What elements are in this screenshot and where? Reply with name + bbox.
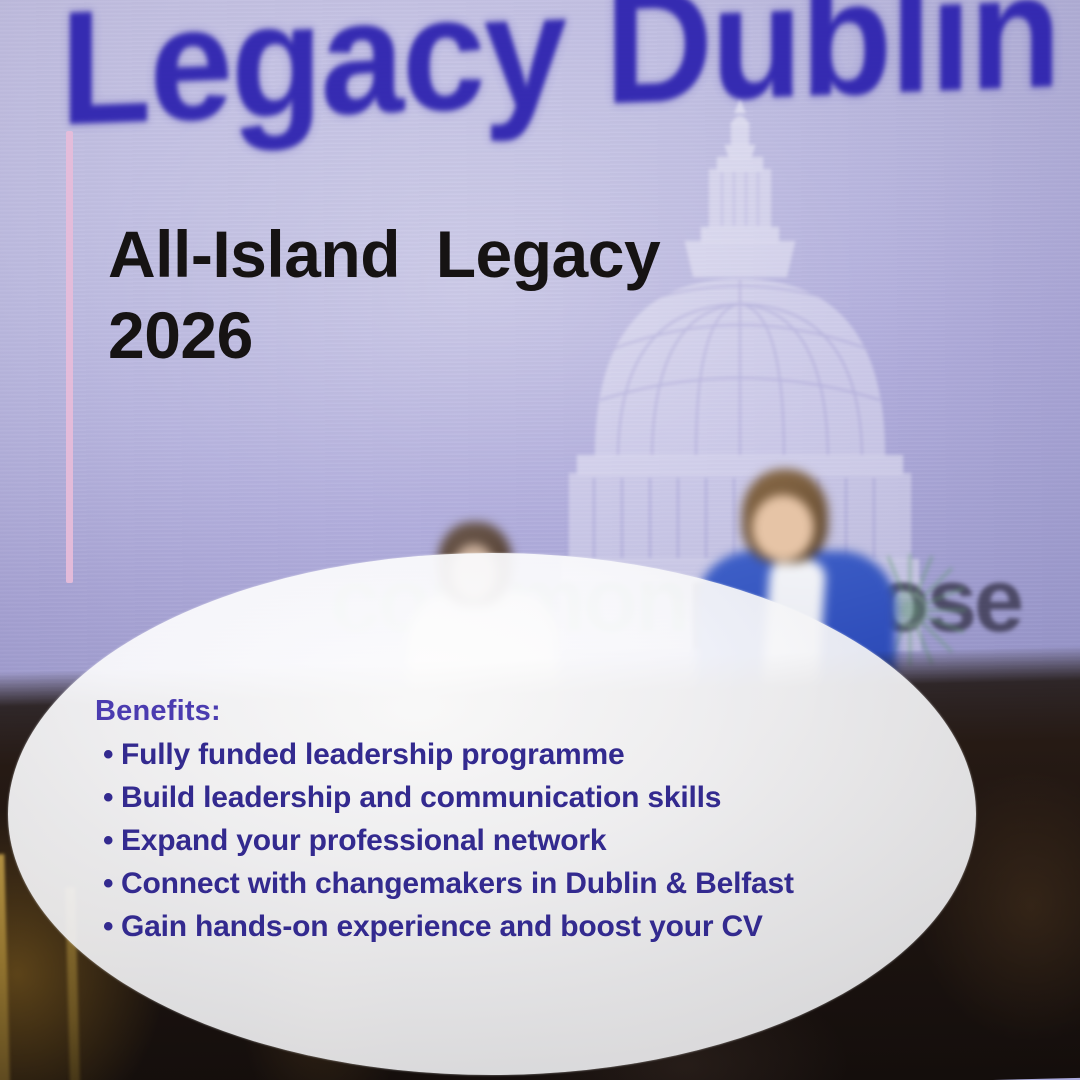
benefit-list-item: •Fully funded leadership programme: [103, 740, 895, 770]
title-line-1: All-Island Legacy: [108, 214, 728, 295]
bullet-icon: •: [103, 740, 121, 770]
benefits-list: •Fully funded leadership programme•Build…: [95, 740, 895, 942]
benefits-section: Benefits: •Fully funded leadership progr…: [95, 695, 895, 955]
benefit-item-label: Gain hands-on experience and boost your …: [121, 910, 763, 943]
benefit-list-item: •Connect with changemakers in Dublin & B…: [103, 869, 895, 899]
bullet-icon: •: [103, 869, 121, 899]
bullet-icon: •: [103, 912, 121, 942]
benefits-heading: Benefits:: [95, 695, 895, 728]
poster-canvas: Legacy Dublin: [0, 0, 1080, 1080]
benefit-list-item: •Gain hands-on experience and boost your…: [103, 912, 895, 942]
benefit-item-label: Fully funded leadership programme: [121, 738, 625, 771]
benefit-list-item: •Build leadership and communication skil…: [103, 783, 895, 813]
page-title: All-Island Legacy 2026: [108, 214, 728, 375]
bullet-icon: •: [103, 826, 121, 856]
bullet-icon: •: [103, 783, 121, 813]
benefit-list-item: •Expand your professional network: [103, 826, 895, 856]
benefit-item-label: Build leadership and communication skill…: [121, 781, 721, 814]
accent-bar: [66, 131, 73, 583]
benefit-item-label: Connect with changemakers in Dublin & Be…: [121, 867, 794, 900]
title-line-2: 2026: [108, 295, 728, 376]
benefit-item-label: Expand your professional network: [121, 824, 606, 857]
